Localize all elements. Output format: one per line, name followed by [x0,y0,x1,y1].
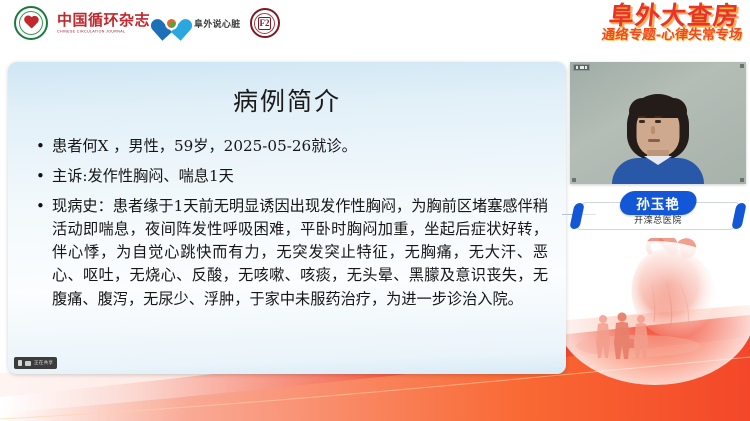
fuwai-heart-icon [159,10,185,36]
speaker-name-pill: 孙玉艳 [618,191,699,215]
list-item: • 患者何X ，男性，59岁，2025-05-26就诊。 [36,135,548,158]
fuwai-heart-label: 阜外说心脏 [194,17,241,30]
speaker-organization: 开滦总医院 [570,213,746,226]
banner-subtitle: 通络专题-心律失常专场 [601,29,743,43]
bullet-marker: • [36,195,52,218]
bullet-text: 主诉:发作性胸闷、喘息1天 [52,165,548,188]
journal-title-en: CHINESE CIRCULATION JOURNAL [57,29,150,33]
speaker-name-card: 孙玉艳 开滦总医院 [570,191,746,235]
share-status-label: 正在共享 [34,360,53,366]
program-banner: 阜外大查房 通络专题-心律失常专场 [601,3,746,43]
badge-text: F2 [258,17,271,30]
video-corner-marker [740,64,744,68]
slide-panel[interactable]: 病例简介 • 患者何X ，男性，59岁，2025-05-26就诊。 • 主诉:发… [8,62,566,374]
stop-share-icon[interactable] [18,360,22,366]
screen-share-indicator[interactable]: 正在共享 [14,357,57,369]
list-item: • 主诉:发作性胸闷、喘息1天 [36,165,548,188]
speaker-name: 孙玉艳 [636,193,680,213]
bullet-marker: • [36,165,52,188]
logo-row: 中国循环杂志 CHINESE CIRCULATION JOURNAL 阜外说心脏… [14,6,280,40]
people-silhouettes [592,312,652,360]
heart-glyph-icon [24,16,39,30]
bullet-text: 现病史：患者缘于1天前无明显诱因出现发作性胸闷，为胸前区堵塞感伴稍活动即喘息，夜… [52,195,548,310]
speaker-portrait [603,88,713,184]
presentation-stage: 中国循环杂志 CHINESE CIRCULATION JOURNAL 阜外说心脏… [0,0,750,421]
header-bar: 中国循环杂志 CHINESE CIRCULATION JOURNAL 阜外说心脏… [0,0,750,56]
slide-title: 病例简介 [8,82,566,118]
journal-title-cn: 中国循环杂志 [57,13,150,29]
monitor-icon[interactable] [25,361,31,366]
journal-seal-icon [14,6,48,40]
video-corner-marker [740,178,744,182]
slide-body: • 患者何X ，男性，59岁，2025-05-26就诊。 • 主诉:发作性胸闷、… [36,135,548,318]
speaker-video-feed[interactable] [570,62,746,184]
list-item: • 现病史：患者缘于1天前无明显诱因出现发作性胸闷，为胸前区堵塞感伴稍活动即喘息… [36,195,548,310]
heart-illustration [560,238,750,388]
bullet-marker: • [36,135,52,158]
video-corner-marker [572,178,576,182]
video-label-badge [573,64,590,71]
banner-title: 阜外大查房 [603,3,746,28]
bullet-text: 患者何X ，男性，59岁，2025-05-26就诊。 [52,135,548,158]
journal-name-block: 中国循环杂志 CHINESE CIRCULATION JOURNAL [57,13,150,33]
institution-badge-icon: F2 [250,8,280,38]
